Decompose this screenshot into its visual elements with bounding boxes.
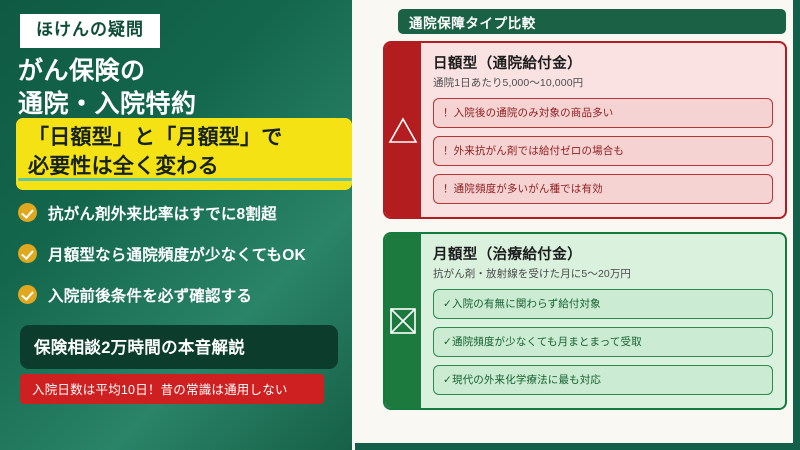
comparison-card-monthly-type: 月額型（治療給付金） 抗がん剤・放射線を受けた月に5〜20万円 ✓入院の有無に関… xyxy=(383,232,787,410)
check-circle-icon xyxy=(18,203,37,222)
alert-banner: 入院日数は平均10日！昔の常識は通用しない xyxy=(20,374,324,404)
highlight-line-1: 「日額型」と「月額型」で xyxy=(28,124,340,153)
list-item-label: 入院前後条件を必ず確認する xyxy=(48,284,252,306)
infographic-root: ほけんの疑問 がん保険の 通院・入院特約 「日額型」と「月額型」で 必要性は全く… xyxy=(0,0,800,450)
card-accent-bar-caution xyxy=(385,43,421,217)
list-item: 月額型なら通院頻度が少なくてもOK xyxy=(18,233,348,274)
right-panel: 通院保障タイプ比較 日額型（通院給付金） 通院1日あたり5,000〜10,000… xyxy=(355,0,800,450)
left-panel: ほけんの疑問 がん保険の 通院・入院特約 「日額型」と「月額型」で 必要性は全く… xyxy=(0,0,352,450)
crossed-box-icon xyxy=(389,307,417,335)
page-title-line-2: 通院・入院特約 xyxy=(18,88,338,121)
section-divider xyxy=(18,178,352,181)
card-subtitle: 抗がん剤・放射線を受けた月に5〜20万円 xyxy=(433,266,773,281)
page-title-line-1: がん保険の xyxy=(18,55,338,88)
card-accent-bar-recommended xyxy=(385,234,421,408)
comparison-card-daily-type: 日額型（通院給付金） 通院1日あたり5,000〜10,000円 ！入院後の通院の… xyxy=(383,41,787,219)
list-item-label: 抗がん剤外来比率はすでに8割超 xyxy=(48,202,277,224)
list-item: 入院前後条件を必ず確認する xyxy=(18,274,348,315)
check-circle-icon xyxy=(18,244,37,263)
card-title: 日額型（通院給付金） xyxy=(433,52,773,73)
card-subtitle: 通院1日あたり5,000〜10,000円 xyxy=(433,75,773,90)
card-point-item: ✓現代の外来化学療法に最も対応 xyxy=(433,365,773,395)
eyebrow-label: ほけんの疑問 xyxy=(20,14,160,48)
page-title: がん保険の 通院・入院特約 xyxy=(18,55,338,121)
card-title: 月額型（治療給付金） xyxy=(433,243,773,264)
check-circle-icon xyxy=(18,285,37,304)
list-item-label: 月額型なら通院頻度が少なくてもOK xyxy=(48,243,306,265)
card-body-recommended: 月額型（治療給付金） 抗がん剤・放射線を受けた月に5〜20万円 ✓入院の有無に関… xyxy=(421,234,785,408)
key-points-list: 抗がん剤外来比率はすでに8割超 月額型なら通院頻度が少なくてもOK 入院前後条件… xyxy=(18,192,348,315)
card-point-item: ✓通院頻度が少なくても月まとまって受取 xyxy=(433,327,773,357)
card-body-caution: 日額型（通院給付金） 通院1日あたり5,000〜10,000円 ！入院後の通院の… xyxy=(421,43,785,217)
card-point-item: ✓入院の有無に関わらず給付対象 xyxy=(433,289,773,319)
credential-banner: 保険相談2万時間の本音解説 xyxy=(20,325,338,369)
list-item: 抗がん剤外来比率はすでに8割超 xyxy=(18,192,348,233)
card-point-item: ！外来抗がん剤では給付ゼロの場合も xyxy=(433,136,773,166)
card-point-item: ！通院頻度が多いがん種では有効 xyxy=(433,174,773,204)
warning-triangle-icon xyxy=(388,117,418,144)
comparison-header: 通院保障タイプ比較 xyxy=(398,9,786,34)
card-point-item: ！入院後の通院のみ対象の商品多い xyxy=(433,98,773,128)
